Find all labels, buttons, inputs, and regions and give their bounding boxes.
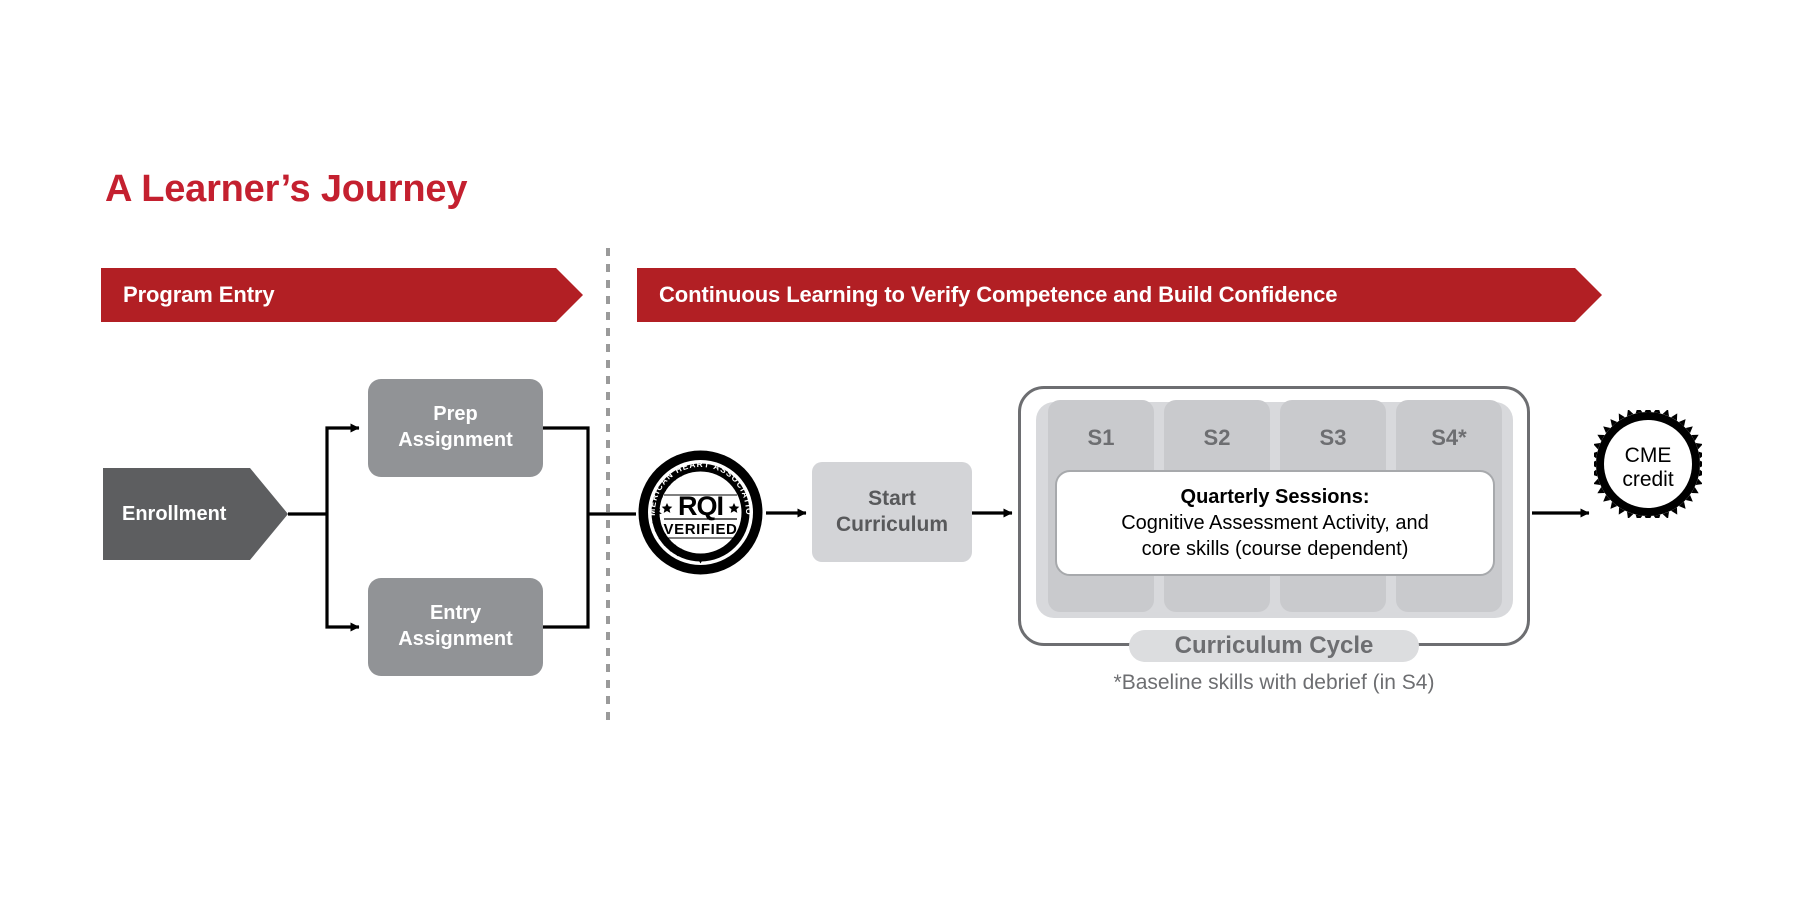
node-entry-assignment-line1: Entry	[398, 601, 512, 627]
quarterly-sessions-line2: Cognitive Assessment Activity, and	[1121, 510, 1429, 536]
node-prep-assignment-line2: Assignment	[398, 428, 512, 454]
curriculum-cycle-pill-label: Curriculum Cycle	[1175, 632, 1374, 660]
banner-program-entry-label: Program Entry	[101, 282, 275, 308]
node-start-curriculum-line1: Start	[836, 486, 948, 512]
node-enrollment-label: Enrollment	[103, 503, 226, 526]
flow-connectors	[0, 0, 1800, 899]
banner-continuous-learning-label: Continuous Learning to Verify Competence…	[637, 282, 1337, 308]
section-divider	[606, 248, 610, 722]
page-title: A Learner’s Journey	[105, 168, 467, 211]
quarterly-sessions-box: Quarterly Sessions: Cognitive Assessment…	[1055, 470, 1495, 576]
session-card-s3-label: S3	[1320, 425, 1347, 450]
node-prep-assignment-line1: Prep	[398, 402, 512, 428]
session-card-s2-label: S2	[1204, 425, 1231, 450]
curriculum-cycle-pill: Curriculum Cycle	[1129, 630, 1419, 662]
footnote-baseline: *Baseline skills with debrief (in S4)	[1018, 671, 1530, 695]
node-start-curriculum-line2: Curriculum	[836, 512, 948, 538]
banner-continuous-learning: Continuous Learning to Verify Competence…	[637, 268, 1602, 322]
node-prep-assignment[interactable]: Prep Assignment	[368, 379, 543, 477]
banner-program-entry: Program Entry	[101, 268, 583, 322]
quarterly-sessions-title: Quarterly Sessions:	[1181, 484, 1370, 510]
cme-badge-line2: credit	[1622, 468, 1674, 491]
quarterly-sessions-line3: core skills (course dependent)	[1142, 536, 1409, 562]
cme-badge-line1: CME	[1625, 444, 1672, 467]
session-card-s1-label: S1	[1088, 425, 1115, 450]
rqi-sub-text: VERIFIED	[664, 521, 738, 538]
node-start-curriculum[interactable]: Start Curriculum	[812, 462, 972, 562]
rqi-verified-badge-icon: AMERICAN HEART ASSOCIATION RQI VERIFIED	[637, 449, 764, 576]
node-entry-assignment[interactable]: Entry Assignment	[368, 578, 543, 676]
node-enrollment[interactable]: Enrollment	[103, 468, 288, 560]
node-entry-assignment-line2: Assignment	[398, 627, 512, 653]
cme-credit-badge-icon: CME credit	[1594, 410, 1702, 518]
session-card-s4-label: S4*	[1431, 425, 1466, 450]
diagram-canvas: A Learner’s Journey Program Entry Contin…	[0, 0, 1800, 899]
